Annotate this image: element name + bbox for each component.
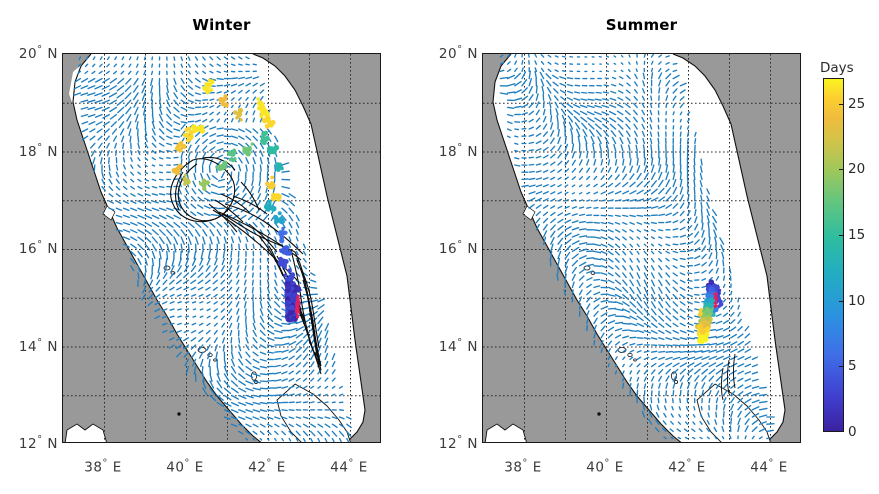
xtick-label: 38° E xyxy=(84,458,122,476)
particle-marker xyxy=(714,292,717,295)
particle-marker xyxy=(295,307,298,310)
particle-marker xyxy=(287,250,293,256)
panel-winter: Winter 20° N 18° N 16° N 14° N 12° N 38°… xyxy=(0,0,440,494)
particle-marker xyxy=(222,161,228,167)
particle-marker xyxy=(287,268,292,273)
particle-marker xyxy=(197,126,202,131)
particle-marker xyxy=(216,165,220,169)
map-axes-summer[interactable] xyxy=(482,53,801,443)
particle-marker xyxy=(268,200,272,204)
particle-marker xyxy=(270,176,274,180)
particle-marker xyxy=(223,94,227,98)
particle-marker xyxy=(280,235,285,240)
particle-marker xyxy=(175,171,180,176)
particle-marker xyxy=(285,300,290,305)
particle-marker xyxy=(208,79,212,83)
xtick-label: 42° E xyxy=(668,458,706,476)
particle-marker xyxy=(256,97,259,100)
xtick-label: 42° E xyxy=(248,458,286,476)
particle-marker xyxy=(705,308,710,313)
particle-marker xyxy=(263,110,269,116)
particle-marker xyxy=(275,164,281,170)
colorbar-tick-mark xyxy=(839,301,844,302)
particle-marker xyxy=(718,305,721,308)
particle-marker xyxy=(227,151,232,156)
particle-marker xyxy=(258,102,262,106)
particle-marker xyxy=(703,320,707,324)
particle-marker xyxy=(232,149,236,153)
particle-marker xyxy=(296,299,299,302)
particle-marker xyxy=(260,114,264,118)
map-axes-winter[interactable] xyxy=(62,53,381,443)
particle-marker xyxy=(269,146,274,151)
particle-marker xyxy=(268,205,272,209)
xtick-label: 40° E xyxy=(586,458,624,476)
particle-marker xyxy=(281,227,284,230)
particle-marker xyxy=(290,295,296,301)
particle-marker xyxy=(714,302,717,305)
particle-marker xyxy=(699,338,703,342)
particle-marker xyxy=(284,281,290,287)
particle-marker xyxy=(271,184,275,188)
particle-marker xyxy=(218,97,224,103)
particle-marker xyxy=(251,142,254,145)
particle-marker xyxy=(221,102,225,106)
map-canvas-winter xyxy=(63,54,381,443)
xtick-label: 44° E xyxy=(750,458,788,476)
particle-marker xyxy=(283,266,286,269)
colorbar-tick-label: 5 xyxy=(848,358,857,374)
particle-marker xyxy=(274,221,278,225)
particle-marker xyxy=(699,328,705,334)
particle-marker xyxy=(205,180,210,185)
colorbar-tick-mark xyxy=(839,235,844,236)
particle-marker xyxy=(235,116,239,120)
colorbar-title: Days xyxy=(820,60,854,76)
particle-marker xyxy=(210,88,214,92)
colorbar-tick-label: 20 xyxy=(848,161,865,177)
particle-marker xyxy=(297,311,300,314)
particle-marker xyxy=(175,146,180,151)
particle-marker xyxy=(296,314,299,317)
particle-marker xyxy=(703,325,707,329)
particle-marker xyxy=(278,257,283,262)
particle-marker xyxy=(184,174,187,177)
particle-marker xyxy=(185,128,190,133)
particle-marker xyxy=(289,276,294,281)
particle-marker xyxy=(239,118,242,121)
particle-marker xyxy=(714,296,717,299)
particle-marker xyxy=(233,157,237,161)
particle-marker xyxy=(202,179,205,182)
coast-patch-sw xyxy=(65,424,107,443)
particle-marker xyxy=(185,133,189,137)
particle-marker xyxy=(186,180,191,185)
colorbar-tick-label: 0 xyxy=(848,424,857,440)
colorbar-tick-mark xyxy=(839,366,844,367)
particle-marker xyxy=(283,274,287,278)
particle-marker xyxy=(274,145,280,151)
particle-marker xyxy=(206,82,212,88)
particle-marker xyxy=(245,147,250,152)
particle-marker xyxy=(296,296,299,299)
sea-body xyxy=(493,54,785,443)
colorbar-tick-label: 10 xyxy=(848,293,865,309)
particle-marker xyxy=(280,216,285,221)
panel-summer: Summer 20° N 18° N 16° N 14° N 12° N 38°… xyxy=(420,0,840,494)
particle-marker xyxy=(189,130,194,135)
particle-marker xyxy=(278,211,282,215)
xtick-label: 40° E xyxy=(166,458,204,476)
particle-marker xyxy=(177,164,182,169)
particle-marker xyxy=(229,158,233,162)
particle-marker xyxy=(262,140,267,145)
particle-marker xyxy=(289,305,295,311)
colorbar-tick-mark xyxy=(839,104,844,105)
particle-marker xyxy=(710,287,715,292)
particle-marker xyxy=(199,182,202,185)
particle-marker xyxy=(181,144,186,149)
particle-marker xyxy=(281,261,286,266)
colorbar-tick-label: 15 xyxy=(848,227,865,243)
colorbar-tick-mark xyxy=(839,169,844,170)
particle-marker xyxy=(188,136,193,141)
xtick-label: 38° E xyxy=(504,458,542,476)
particle-marker xyxy=(267,119,272,124)
particle-marker xyxy=(265,182,269,186)
xtick-label: 44° E xyxy=(330,458,368,476)
particle-marker xyxy=(280,230,285,235)
colorbar-gradient[interactable] xyxy=(823,78,844,432)
colorbar: Days 25 20 15 10 5 0 xyxy=(818,53,879,453)
particle-marker xyxy=(297,303,300,306)
particle-marker xyxy=(290,316,295,321)
particle-marker xyxy=(714,305,717,308)
map-canvas-summer xyxy=(483,54,801,443)
colorbar-tick-label: 25 xyxy=(848,96,865,112)
particle-marker xyxy=(261,131,267,137)
coast-patch-sw xyxy=(485,424,527,443)
particle-marker xyxy=(271,193,276,198)
